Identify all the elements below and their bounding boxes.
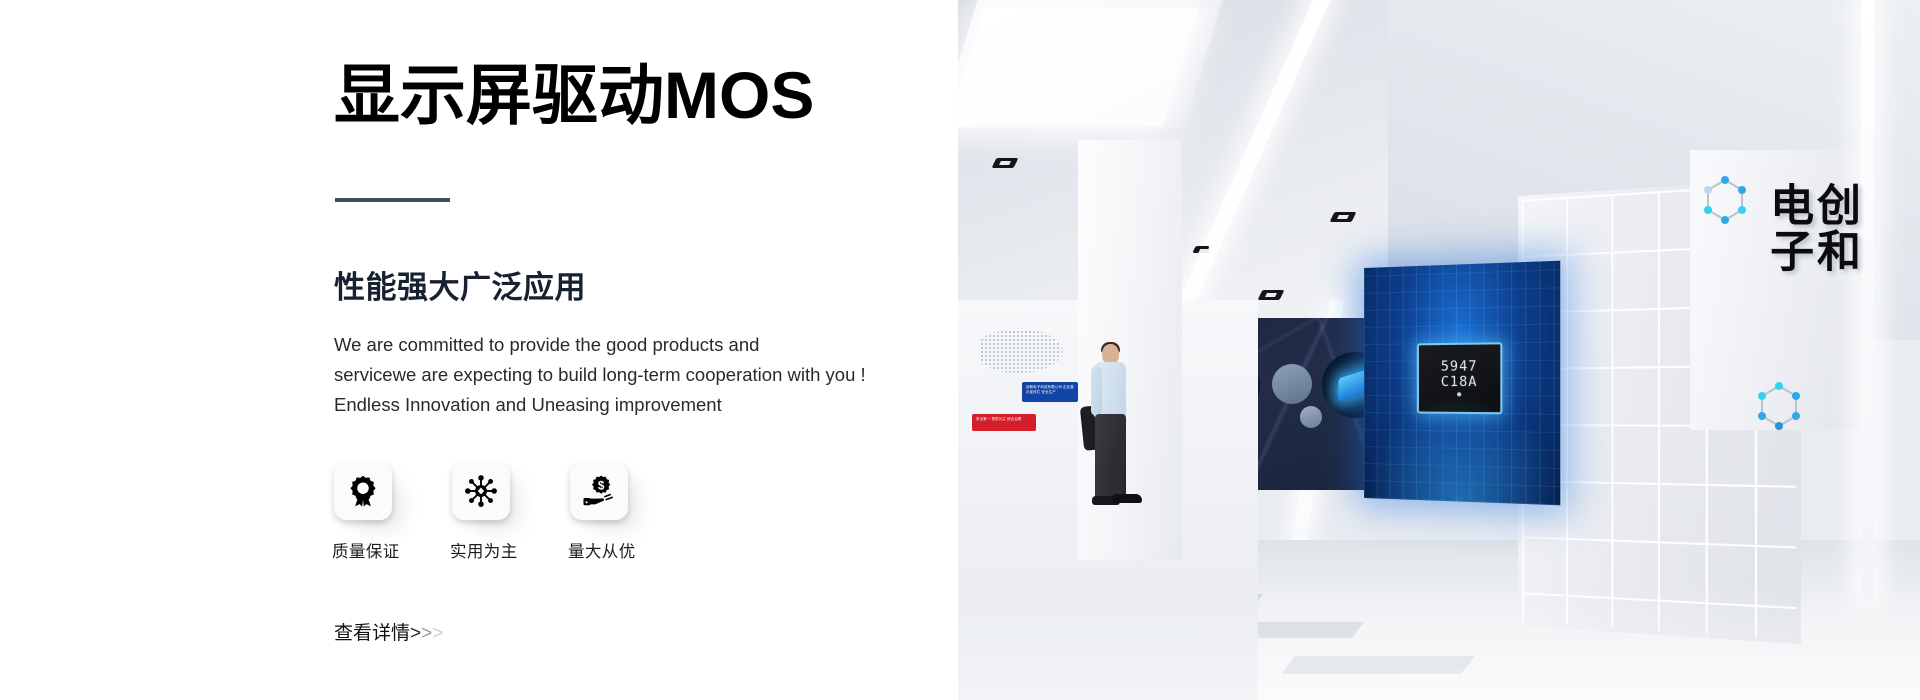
led-display-screen[interactable]: 5947 C18A: [1364, 261, 1560, 506]
svg-text:$: $: [598, 480, 605, 493]
feature-item-bulk-discount[interactable]: $ 量大从优: [570, 462, 628, 520]
wall-sign-red-text: 安全第一 预防为主 综合治理: [972, 414, 1036, 425]
description-paragraph: We are committed to provide the good pro…: [334, 330, 894, 420]
description-line: Endless Innovation and Uneasing improvem…: [334, 390, 894, 420]
hand-money-icon: $: [582, 474, 616, 508]
showroom-photo: 展示区 CHANGHE TECHNOLOGY 创和电子科技有限公司 企业展示宣传…: [958, 0, 1920, 700]
brand-column-left: 电子: [1764, 182, 1809, 274]
vertical-light-strip: [1861, 0, 1874, 600]
feature-icon-card[interactable]: [452, 462, 510, 520]
chip-pin1-dot: [1457, 393, 1461, 397]
network-hub-icon: [464, 474, 498, 508]
feature-icon-card[interactable]: $: [570, 462, 628, 520]
ceiling-spotlight: [1192, 246, 1209, 253]
chevron-right-icon: >: [421, 623, 432, 645]
dotted-world-map: [980, 322, 1076, 380]
skylight-panel: [958, 8, 1199, 126]
chevron-right-icon: >: [432, 623, 443, 645]
page-title: 显示屏驱动MOS: [334, 58, 814, 134]
feature-label: 实用为主: [450, 538, 518, 562]
chevron-right-icon: >: [410, 623, 421, 645]
view-details-link[interactable]: 查看详情>>>: [334, 618, 443, 645]
wall-circle-photo: [1272, 364, 1312, 404]
description-line: We are committed to provide the good pro…: [334, 330, 894, 360]
feature-label: 质量保证: [332, 538, 400, 562]
arm: [1091, 366, 1102, 416]
wall-sign-blue-text: 创和电子科技有限公司 企业展示宣传栏 安全生产: [1022, 382, 1078, 398]
chip-marking-line-1: 5947: [1441, 360, 1478, 376]
subtitle: 性能强大广泛应用: [334, 262, 586, 307]
hero-banner: 显示屏驱动MOS 性能强大广泛应用 We are committed to pr…: [0, 0, 1920, 700]
hexagon-molecule-icon: [1756, 382, 1802, 434]
brand-column-right: 创和: [1811, 182, 1856, 274]
view-details-label: 查看详情: [334, 618, 410, 645]
feature-list: 质量保证: [334, 462, 628, 520]
feature-item-practical[interactable]: 实用为主: [452, 462, 510, 520]
feature-label: 量大从优: [568, 538, 636, 562]
floor-reflection: [958, 580, 1920, 700]
chip-package-graphic: 5947 C18A: [1417, 342, 1503, 414]
feature-item-quality[interactable]: 质量保证: [334, 462, 392, 520]
wall-circle-photo: [1300, 406, 1322, 428]
wall-sign-blue[interactable]: 创和电子科技有限公司 企业展示宣传栏 安全生产: [1022, 382, 1078, 402]
chip-marking-line-2: C18A: [1441, 375, 1478, 391]
person-man: [1076, 344, 1140, 510]
title-divider: [335, 198, 450, 202]
award-ribbon-icon: [346, 474, 380, 508]
description-line: servicewe are expecting to build long-te…: [334, 360, 894, 390]
brand-signage: 创和 电子: [1764, 182, 1856, 274]
wall-sign-red[interactable]: 安全第一 预防为主 综合治理: [972, 414, 1036, 431]
hexagon-molecule-icon: [1702, 176, 1748, 228]
feature-icon-card[interactable]: [334, 462, 392, 520]
banner-text-column: 显示屏驱动MOS 性能强大广泛应用 We are committed to pr…: [334, 0, 954, 700]
shoe: [1112, 494, 1142, 503]
head: [1102, 344, 1119, 364]
